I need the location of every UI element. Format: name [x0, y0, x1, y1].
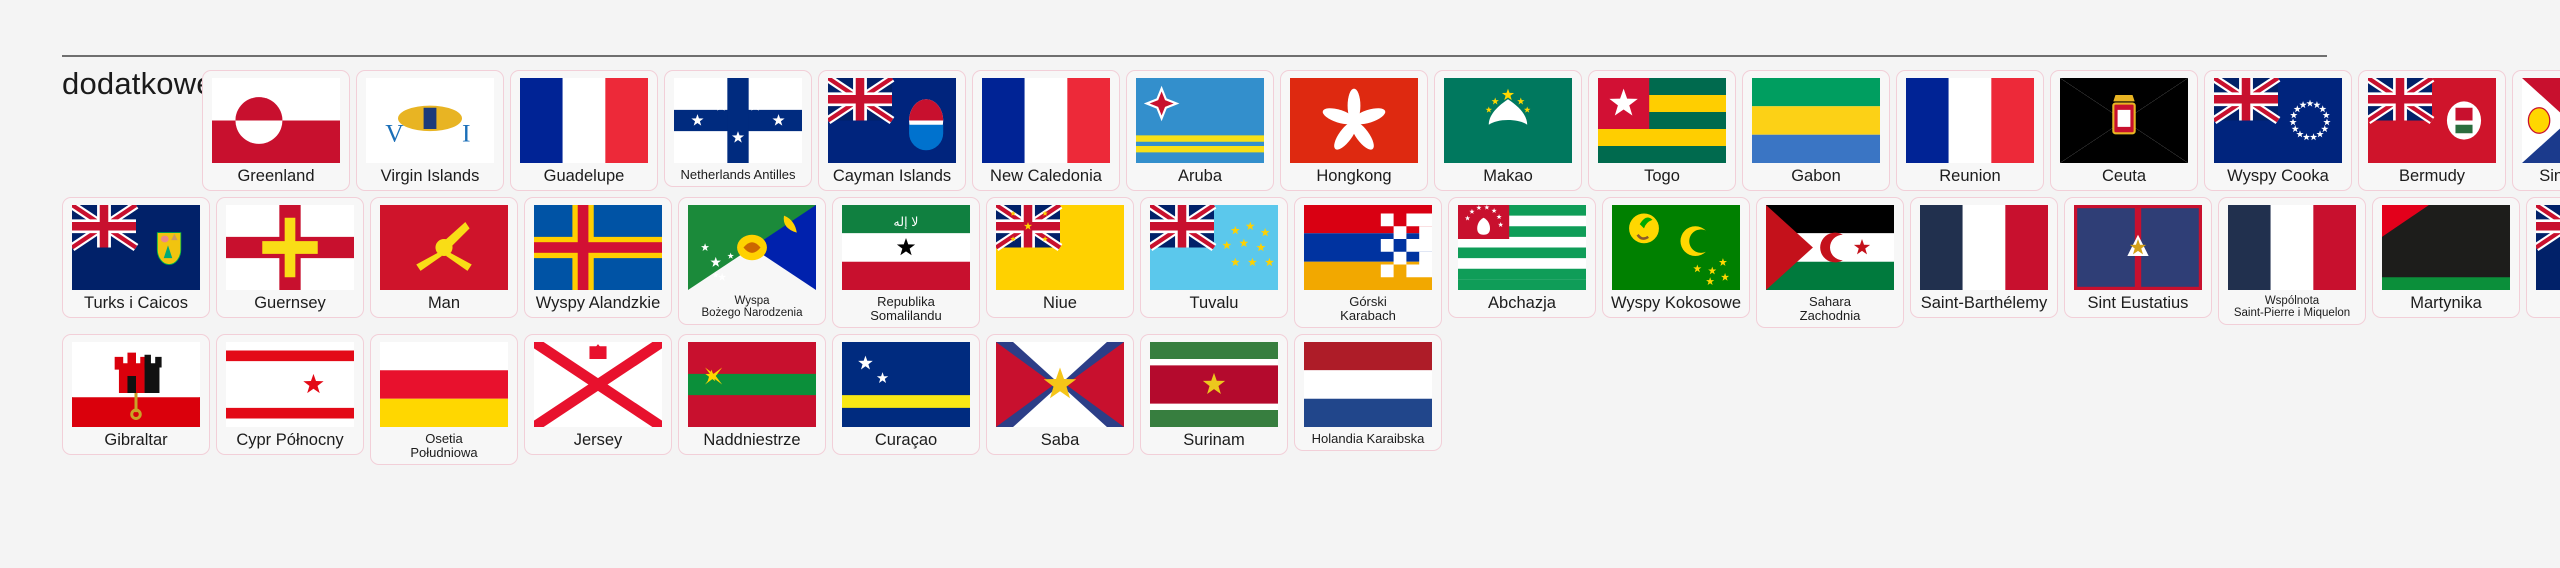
flag-card-label: Curaçao — [840, 432, 972, 450]
northern-cyprus-flag-icon — [226, 342, 354, 427]
saint-barthelemy-flag-icon — [1920, 205, 2048, 290]
sint-maarten-flag-icon — [2522, 78, 2560, 163]
flag-card[interactable]: Gibraltar — [62, 334, 210, 455]
cook-islands-flag-icon — [2214, 78, 2342, 163]
new-caledonia-flag-icon — [982, 78, 1110, 163]
flag-card-label: Wspólnota Saint-Pierre i Miquelon — [2226, 295, 2358, 320]
flag-card-label: Bermudy — [2366, 168, 2498, 186]
flag-card-label: Sahara Zachodnia — [1764, 295, 1896, 323]
flag-card[interactable]: Aruba — [1126, 70, 1274, 191]
flag-card-label: Montserrat — [2534, 295, 2560, 313]
flag-card-label: Turks i Caicos — [70, 295, 202, 313]
flag-rows: GreenlandVIVirgin IslandsGuadelupeNether… — [0, 70, 2560, 471]
flag-card[interactable]: Wyspa Bożego Narodzenia — [678, 197, 826, 325]
flag-card-label: Martynika — [2380, 295, 2512, 313]
flag-card[interactable]: Wyspy Alandzkie — [524, 197, 672, 318]
flag-card[interactable]: Makao — [1434, 70, 1582, 191]
gibraltar-flag-icon — [72, 342, 200, 427]
flag-card-label: Greenland — [210, 168, 342, 186]
flag-card-label: Guadelupe — [518, 168, 650, 186]
south-ossetia-flag-icon — [380, 342, 508, 427]
flag-card[interactable]: ﻻ ﺇﻟﻪRepublika Somalilandu — [832, 197, 980, 328]
flag-card[interactable]: Turks i Caicos — [62, 197, 210, 318]
abkhazia-flag-icon — [1458, 205, 1586, 290]
flag-row-1: GreenlandVIVirgin IslandsGuadelupeNether… — [0, 70, 2560, 191]
flag-card[interactable]: Abchazja — [1448, 197, 1596, 318]
flag-card[interactable]: Montserrat — [2526, 197, 2560, 318]
martinique-flag-icon — [2382, 205, 2510, 290]
christmas-island-flag-icon — [688, 205, 816, 290]
flag-card-label: Sint Eustatius — [2072, 295, 2204, 313]
svg-text:V: V — [385, 119, 404, 148]
flag-card-label: Guernsey — [224, 295, 356, 313]
flag-card-label: Abchazja — [1456, 295, 1588, 313]
flag-card-label: Wyspy Kokosowe — [1610, 295, 1742, 313]
flag-card[interactable]: Niue — [986, 197, 1134, 318]
ceuta-flag-icon — [2060, 78, 2188, 163]
flag-card-label: Górski Karabach — [1302, 295, 1434, 323]
flag-card-label: Aruba — [1134, 168, 1266, 186]
flags-page: dodatkowe GreenlandVIVirgin IslandsGuade… — [0, 0, 2560, 568]
flag-card[interactable]: Jersey — [524, 334, 672, 455]
saba-flag-icon — [996, 342, 1124, 427]
cocos-islands-flag-icon — [1612, 205, 1740, 290]
flag-card[interactable]: Wspólnota Saint-Pierre i Miquelon — [2218, 197, 2366, 325]
reunion-flag-icon — [1906, 78, 2034, 163]
flag-card-label: Hongkong — [1288, 168, 1420, 186]
flag-card[interactable]: Górski Karabach — [1294, 197, 1442, 328]
flag-card[interactable]: Wyspy Cooka — [2204, 70, 2352, 191]
flag-card[interactable]: VIVirgin Islands — [356, 70, 504, 191]
flag-card-label: Holandia Karaibska — [1302, 432, 1434, 446]
isle-of-man-flag-icon — [380, 205, 508, 290]
flag-card-label: Man — [378, 295, 510, 313]
flag-card[interactable]: Sint Eustatius — [2064, 197, 2212, 318]
gabon-flag-icon — [1752, 78, 1880, 163]
somaliland-flag-icon: ﻻ ﺇﻟﻪ — [842, 205, 970, 290]
flag-card-label: Virgin Islands — [364, 168, 496, 186]
flag-card-label: Cayman Islands — [826, 168, 958, 186]
artsakh-flag-icon — [1304, 205, 1432, 290]
suriname-flag-icon — [1150, 342, 1278, 427]
flag-card-label: Osetia Południowa — [378, 432, 510, 460]
flag-card-label: Gibraltar — [70, 432, 202, 450]
transnistria-flag-icon — [688, 342, 816, 427]
flag-card-label: Wyspy Alandzkie — [532, 295, 664, 313]
greenland-flag-icon — [212, 78, 340, 163]
flag-card[interactable]: Naddniestrze — [678, 334, 826, 455]
flag-card-label: Reunion — [1904, 168, 2036, 186]
flag-card[interactable]: Curaçao — [832, 334, 980, 455]
section-divider — [62, 55, 2327, 57]
flag-card[interactable]: Wyspy Kokosowe — [1602, 197, 1750, 318]
flag-card[interactable]: Tuvalu — [1140, 197, 1288, 318]
guadelupe-flag-icon — [520, 78, 648, 163]
flag-row-2: Turks i CaicosGuernsey ManWyspy Alandzki… — [0, 197, 2560, 328]
montserrat-flag-icon — [2536, 205, 2560, 290]
flag-card-label: Saint-Barthélemy — [1918, 295, 2050, 313]
flag-card[interactable]: Hongkong — [1280, 70, 1428, 191]
flag-card-label: Togo — [1596, 168, 1728, 186]
saint-pierre-miquelon-flag-icon — [2228, 205, 2356, 290]
flag-card-label: Makao — [1442, 168, 1574, 186]
niue-flag-icon — [996, 205, 1124, 290]
cayman-islands-flag-icon — [828, 78, 956, 163]
flag-card[interactable]: Surinam — [1140, 334, 1288, 455]
svg-text:ﻻ ﺇﻟﻪ: ﻻ ﺇﻟﻪ — [893, 214, 918, 230]
flag-card[interactable]: Saba — [986, 334, 1134, 455]
curacao-flag-icon — [842, 342, 970, 427]
netherlands-antilles-flag-icon — [674, 78, 802, 163]
flag-card[interactable]: Cypr Północny — [216, 334, 364, 455]
flag-card[interactable]: New Caledonia — [972, 70, 1120, 191]
flag-card[interactable]: Netherlands Antilles — [664, 70, 812, 187]
flag-card[interactable]: Reunion — [1896, 70, 2044, 191]
flag-card-label: Cypr Północny — [224, 432, 356, 450]
svg-text:I: I — [462, 119, 471, 148]
flag-card-label: Wyspa Bożego Narodzenia — [686, 295, 818, 320]
flag-card-label: Netherlands Antilles — [672, 168, 804, 182]
caribbean-netherlands-flag-icon — [1304, 342, 1432, 427]
flag-card[interactable]: Sint Maarten — [2512, 70, 2560, 191]
flag-card[interactable]: Osetia Południowa — [370, 334, 518, 465]
aruba-flag-icon — [1136, 78, 1264, 163]
flag-card-label: Saba — [994, 432, 1126, 450]
guernsey-flag-icon — [226, 205, 354, 290]
flag-card-label: Niue — [994, 295, 1126, 313]
virgin-islands-flag-icon: VI — [366, 78, 494, 163]
flag-card-label: Republika Somalilandu — [840, 295, 972, 323]
flag-card[interactable]: Guernsey — [216, 197, 364, 318]
flag-card[interactable]: Greenland — [202, 70, 350, 191]
flag-card[interactable]: Saint-Barthélemy — [1910, 197, 2058, 318]
makao-flag-icon — [1444, 78, 1572, 163]
flag-row-3: GibraltarCypr PółnocnyOsetia PołudniowaJ… — [0, 334, 2560, 465]
aland-flag-icon — [534, 205, 662, 290]
flag-card[interactable]: Holandia Karaibska — [1294, 334, 1442, 451]
flag-card-label: Ceuta — [2058, 168, 2190, 186]
hongkong-flag-icon — [1290, 78, 1418, 163]
flag-card[interactable]: Bermudy — [2358, 70, 2506, 191]
western-sahara-flag-icon — [1766, 205, 1894, 290]
flag-card-label: Surinam — [1148, 432, 1280, 450]
togo-flag-icon — [1598, 78, 1726, 163]
flag-card[interactable]: Sahara Zachodnia — [1756, 197, 1904, 328]
flag-card-label: Jersey — [532, 432, 664, 450]
flag-card-label: Naddniestrze — [686, 432, 818, 450]
flag-card[interactable]: Gabon — [1742, 70, 1890, 191]
flag-card[interactable]: Guadelupe — [510, 70, 658, 191]
flag-card-label: Sint Maarten — [2520, 168, 2560, 186]
tuvalu-flag-icon — [1150, 205, 1278, 290]
flag-card-label: Gabon — [1750, 168, 1882, 186]
flag-card[interactable]: Martynika — [2372, 197, 2520, 318]
flag-card-label: Tuvalu — [1148, 295, 1280, 313]
flag-card[interactable]: Man — [370, 197, 518, 318]
flag-card[interactable]: Cayman Islands — [818, 70, 966, 191]
sint-eustatius-flag-icon — [2074, 205, 2202, 290]
flag-card-label: Wyspy Cooka — [2212, 168, 2344, 186]
flag-card-label: New Caledonia — [980, 168, 1112, 186]
turks-caicos-flag-icon — [72, 205, 200, 290]
jersey-flag-icon — [534, 342, 662, 427]
bermuda-flag-icon — [2368, 78, 2496, 163]
flag-card[interactable]: Ceuta — [2050, 70, 2198, 191]
flag-card[interactable]: Togo — [1588, 70, 1736, 191]
